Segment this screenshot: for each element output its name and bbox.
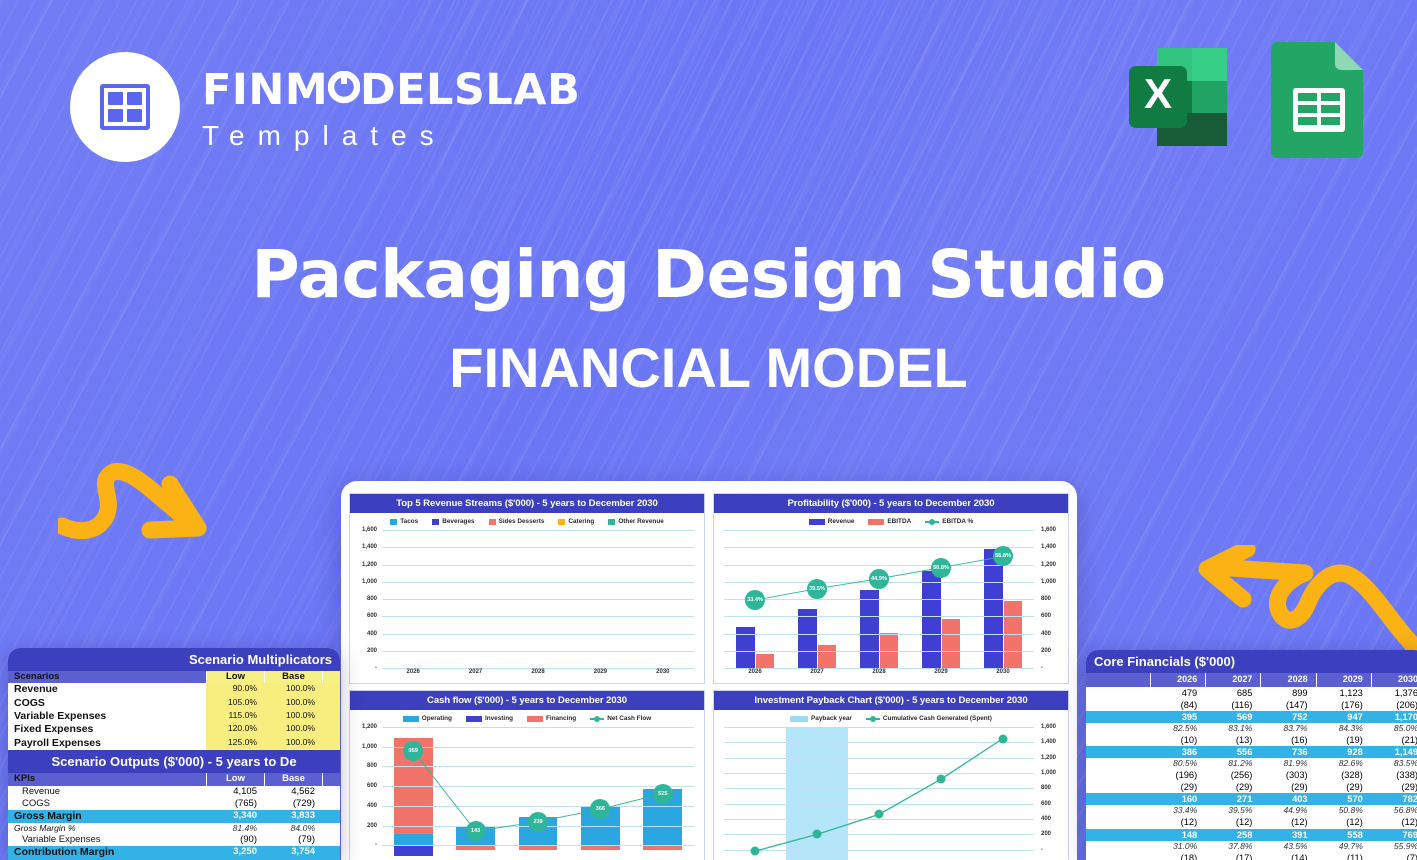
y-tick-label: 800 [1041,785,1051,791]
row-value: 80.5% [1150,758,1205,769]
row-label-spacer [1086,673,1150,687]
y-axis-labels: -2004006008001,0001,2001,4001,600 [1038,530,1064,668]
y-axis-labels: (200)-2004006008001,0001,200 [354,727,380,860]
chart-legend: Operating Investing Financing Net Cash F… [350,710,704,724]
core-financials-sheet[interactable]: Core Financials ($'000) 2026202720282029… [1086,650,1417,860]
row-value: (29) [1150,781,1205,793]
legend-label: Investing [485,715,513,722]
row-value: (79) [264,834,322,846]
table-row[interactable]: (10)(13)(16)(19)(21) [1086,734,1417,746]
row-value-cut [322,834,340,846]
row-label-spacer [1086,816,1150,828]
svg-text:X: X [1144,70,1172,117]
table-row[interactable]: (12)(12)(12)(12)(12) [1086,816,1417,828]
scenario-multiplicators-banner: Scenario Multiplicators [8,648,340,671]
row-label-spacer [1086,769,1150,781]
legend-label: Catering [568,518,594,525]
net-cash-flow-line [382,727,694,860]
y-tick-label: 1,400 [1041,544,1056,550]
row-value: 100.0% [264,683,322,696]
data-point [813,830,822,839]
row-value-cut [322,710,340,723]
row-value: (19) [1316,734,1371,746]
scenario-col-cut [322,671,340,683]
x-tick-label: 2026 [382,669,444,682]
legend-item: Beverages [432,518,474,525]
scenario-outputs-banner: Scenario Outputs ($'000) - 5 years to De [8,750,340,773]
cumulative-cash-line [724,727,1034,860]
row-label-spacer [1086,829,1150,841]
legend-label: Sides Desserts [499,518,545,525]
table-row[interactable]: Revenue90.0%100.0% [8,683,340,696]
chart-cash-flow[interactable]: Cash flow ($'000) - 5 years to December … [349,690,705,860]
legend-item: Other Revenue [608,518,663,525]
row-label-spacer [1086,699,1150,711]
legend-swatch [403,716,419,722]
row-label: Variable Expenses [8,834,206,846]
legend-swatch [390,519,397,525]
chart-title: Profitability ($'000) - 5 years to Decem… [714,494,1068,513]
legend-swatch [527,716,543,722]
y-axis-labels: (200)-2004006008001,0001,2001,4001,600 [1038,727,1064,860]
poster-canvas: FINM DELSLAB Templates [0,0,1417,860]
row-value: 84.3% [1316,723,1371,734]
y-tick-label: - [375,665,377,671]
legend-swatch [558,519,565,525]
row-value: 84.0% [264,823,322,834]
row-value: (17) [1205,852,1260,860]
grid-squares-icon [100,84,150,130]
row-value-cut [322,810,340,823]
row-label-spacer [1086,687,1150,699]
table-row[interactable]: 31.0%37.8%43.5%49.7%55.9% [1086,841,1417,852]
gridline [382,651,694,652]
row-value: 115.0% [206,710,264,723]
data-label: 959 [403,741,423,761]
row-value: 148 [1150,829,1205,841]
row-label-spacer [1086,793,1150,805]
data-label: 525 [653,784,673,804]
core-financials-year-header: 20262027202820292030 [1086,673,1417,687]
row-value: 947 [1316,711,1371,723]
plot-grid: 33.4%39.5%44.9%50.8%56.8% [724,530,1034,668]
legend-label: Tacos [400,518,418,525]
y-tick-label: 1,600 [362,527,377,533]
row-value: 33.4% [1150,805,1205,816]
data-label: 366 [590,799,610,819]
table-row[interactable]: 82.5%83.1%83.7%84.3%85.0% [1086,723,1417,734]
row-value-cut [322,786,340,798]
legend-line-swatch [925,521,939,523]
data-point [875,810,884,819]
row-value: 391 [1260,829,1315,841]
row-value: 395 [1150,711,1205,723]
row-value: 3,833 [264,810,322,823]
row-label-spacer [1086,758,1150,769]
row-value: (12) [1205,816,1260,828]
row-label-spacer [1086,841,1150,852]
y-tick-label: 1,400 [1041,739,1056,745]
legend-label: Cumulative Cash Generated (Spent) [883,715,992,722]
legend-swatch [489,519,496,525]
plot-grid [724,727,1034,860]
row-value: (7) [1371,852,1417,860]
table-row[interactable]: (84)(116)(147)(176)(206) [1086,699,1417,711]
legend-item: Operating [403,715,452,722]
row-value-cut [322,723,340,736]
table-row[interactable]: (196)(256)(303)(328)(338) [1086,769,1417,781]
row-label: Variable Expenses [8,710,206,723]
table-row[interactable]: Fixed Expenses120.0%100.0% [8,723,340,736]
legend-label: Other Revenue [618,518,663,525]
chart-title: Top 5 Revenue Streams ($'000) - 5 years … [350,494,704,513]
row-value: (18) [1150,852,1205,860]
row-value: 31.0% [1150,841,1205,852]
y-tick-label: 400 [367,803,377,809]
kpi-col-low: Low [206,773,264,785]
legend-item: Catering [558,518,594,525]
legend-label: EBITDA [887,518,911,525]
page-subtitle: FINANCIAL MODEL [0,335,1417,400]
chart-plot-area: -2004006008001,0001,2001,4001,600 202620… [350,527,704,683]
row-value: 43.5% [1260,841,1315,852]
table-row[interactable]: 160271403570782 [1086,793,1417,805]
curved-arrow-right-icon [58,440,218,565]
y-tick-label: 1,000 [1041,579,1056,585]
chart-title: Cash flow ($'000) - 5 years to December … [350,691,704,710]
gridline [382,530,694,531]
row-label: Fixed Expenses [8,723,206,736]
row-value: 105.0% [206,697,264,710]
table-row[interactable]: 148258391558769 [1086,829,1417,841]
legend-swatch [790,716,808,722]
row-value: 1,123 [1316,687,1371,699]
plot-grid [382,530,694,668]
data-label: 50.8% [931,558,951,578]
legend-item: Cumulative Cash Generated (Spent) [866,715,992,722]
data-point [937,775,946,784]
row-value: (29) [1316,781,1371,793]
row-value: 569 [1205,711,1260,723]
kpi-col-cut [322,773,340,785]
plot-grid: 959143239366525 [382,727,694,860]
row-value: 928 [1316,746,1371,758]
x-tick-label: 2029 [569,669,631,682]
y-tick-label: 800 [1041,596,1051,602]
row-value-cut [322,737,340,750]
row-value: 3,754 [264,846,322,859]
year-header-cell: 2027 [1205,673,1260,687]
y-tick-label: 1,400 [362,544,377,550]
row-value: 782 [1371,793,1417,805]
y-tick-label: 800 [367,763,377,769]
row-value-cut [322,846,340,859]
row-value: 100.0% [264,697,322,710]
table-row[interactable]: 80.5%81.2%81.9%82.6%83.5% [1086,758,1417,769]
x-tick-label: 2028 [848,669,910,682]
legend-item: Sides Desserts [489,518,545,525]
table-row[interactable]: 33.4%39.5%44.9%50.8%56.8% [1086,805,1417,816]
y-tick-label: - [1041,665,1043,671]
row-value: 736 [1260,746,1315,758]
x-tick-label: 2029 [910,669,972,682]
gridline [382,599,694,600]
row-value: (29) [1371,781,1417,793]
x-tick-label: 2030 [632,669,694,682]
scenario-header-row: Scenarios Low Base [8,671,340,683]
table-row[interactable]: Variable Expenses(90)(79) [8,834,340,846]
core-financials-banner: Core Financials ($'000) [1086,650,1417,673]
year-header-cell: 2030 [1371,673,1417,687]
y-tick-label: 1,000 [1041,770,1056,776]
row-value: (29) [1205,781,1260,793]
legend-label: Financing [546,715,576,722]
data-label: 33.4% [745,590,765,610]
table-row[interactable]: Contribution Margin3,2503,754 [8,846,340,859]
gridline [382,634,694,635]
y-tick-label: 400 [1041,631,1051,637]
year-header-cell: 2029 [1316,673,1371,687]
row-label: COGS [8,697,206,710]
legend-item: Tacos [390,518,418,525]
table-row[interactable]: 3865567369281,149 [1086,746,1417,758]
dashboard-card: Top 5 Revenue Streams ($'000) - 5 years … [341,481,1077,860]
row-value: (13) [1205,734,1260,746]
gridline [382,547,694,548]
year-header-cell: 2026 [1150,673,1205,687]
row-label-spacer [1086,852,1150,860]
legend-item: Net Cash Flow [590,715,651,722]
row-label: Revenue [8,786,206,798]
row-value: 1,170 [1371,711,1417,723]
row-value: 570 [1316,793,1371,805]
page-title: Packaging Design Studio [0,240,1417,309]
row-value: (256) [1205,769,1260,781]
row-label: Payroll Expenses [8,737,206,750]
row-value: 50.8% [1316,805,1371,816]
legend-item: Investing [466,715,513,722]
y-tick-label: 1,200 [1041,755,1056,761]
data-label: 44.9% [869,569,889,589]
row-value: 85.0% [1371,723,1417,734]
chart-title: Investment Payback Chart ($'000) - 5 yea… [714,691,1068,710]
data-label: 239 [528,812,548,832]
kpi-header-label: KPIs [8,773,206,785]
row-value: 83.1% [1205,723,1260,734]
table-row[interactable]: Payroll Expenses125.0%100.0% [8,737,340,750]
logo-word-part-1: FINM [202,65,328,115]
legend-swatch [432,519,439,525]
chart-revenue-streams[interactable]: Top 5 Revenue Streams ($'000) - 5 years … [349,493,705,684]
row-value: 55.9% [1371,841,1417,852]
gridline [382,565,694,566]
data-label: 39.5% [807,579,827,599]
y-tick-label: - [1041,847,1043,853]
legend-item: Financing [527,715,576,722]
row-value: (14) [1260,852,1315,860]
power-o-icon [328,62,360,104]
row-value: 81.4% [206,823,264,834]
row-value: 752 [1260,711,1315,723]
row-value: 769 [1371,829,1417,841]
row-value: (11) [1316,852,1371,860]
row-value: (303) [1260,769,1315,781]
row-label-spacer [1086,746,1150,758]
row-value: 899 [1260,687,1315,699]
chart-legend: Revenue EBITDA EBITDA % [714,513,1068,527]
chart-legend: Payback year Cumulative Cash Generated (… [714,710,1068,724]
scenario-col-low: Low [206,671,264,683]
kpi-header-row: KPIs Low Base [8,773,340,785]
row-value: (12) [1150,816,1205,828]
chart-plot-area: -2004006008001,0001,2001,4001,600 33.4%3… [714,527,1068,683]
row-value: 386 [1150,746,1205,758]
row-value-cut [322,823,340,834]
scenario-col-base: Base [264,671,322,683]
row-value: 44.9% [1260,805,1315,816]
table-row[interactable]: 3955697529471,170 [1086,711,1417,723]
row-value: (29) [1260,781,1315,793]
row-value: (12) [1371,816,1417,828]
row-value: 1,376 [1371,687,1417,699]
table-row[interactable]: 4796858991,1231,376 [1086,687,1417,699]
y-tick-label: 200 [1041,648,1051,654]
row-value: 271 [1205,793,1260,805]
x-axis-labels: 20262027202820292030 [382,669,694,682]
curved-arrow-left-icon [1185,545,1417,660]
legend-swatch [809,519,825,525]
row-value: 100.0% [264,723,322,736]
chart-plot-area: (200)-2004006008001,0001,200 95914323936… [350,724,704,860]
legend-line-swatch [866,718,880,720]
y-tick-label: 200 [367,823,377,829]
legend-label: EBITDA % [942,518,973,525]
chart-investment-payback[interactable]: Investment Payback Chart ($'000) - 5 yea… [713,690,1069,860]
legend-swatch [608,519,615,525]
row-value: (147) [1260,699,1315,711]
legend-item: Revenue [809,518,855,525]
y-tick-label: 1,000 [362,744,377,750]
table-row[interactable]: COGS(765)(729) [8,798,340,810]
row-label-spacer [1086,805,1150,816]
y-tick-label: - [375,842,377,848]
logo-mark [70,52,180,162]
logo-subtitle: Templates [202,120,580,152]
row-value: (21) [1371,734,1417,746]
row-label-spacer [1086,781,1150,793]
y-tick-label: 1,600 [1041,527,1056,533]
row-value: 83.7% [1260,723,1315,734]
row-value: (176) [1316,699,1371,711]
google-sheets-icon[interactable] [1269,36,1369,163]
y-tick-label: 800 [367,596,377,602]
row-label: Revenue [8,683,206,696]
y-tick-label: 400 [1041,816,1051,822]
table-row[interactable]: Gross Margin %81.4%84.0% [8,823,340,834]
scenario-multiplicators-rows: Revenue90.0%100.0%COGS105.0%100.0%Variab… [8,683,340,750]
row-label-spacer [1086,734,1150,746]
table-row[interactable]: Gross Margin3,3403,833 [8,810,340,823]
row-value: (16) [1260,734,1315,746]
row-value: (765) [206,798,264,810]
row-value: (206) [1371,699,1417,711]
brand-logo: FINM DELSLAB Templates [70,52,580,162]
chart-plot-area: (200)-2004006008001,0001,2001,4001,600 2… [714,724,1068,860]
y-tick-label: 1,200 [362,562,377,568]
legend-item: Payback year [790,715,852,722]
y-tick-label: 200 [367,648,377,654]
row-value: (12) [1316,816,1371,828]
row-value: 479 [1150,687,1205,699]
row-value: 258 [1205,829,1260,841]
row-value: 3,250 [206,846,264,859]
data-point [751,847,760,856]
table-row[interactable]: (18)(17)(14)(11)(7) [1086,852,1417,860]
row-value: 4,105 [206,786,264,798]
legend-label: Payback year [811,715,852,722]
x-tick-label: 2027 [444,669,506,682]
y-tick-label: 600 [1041,801,1051,807]
row-value: 39.5% [1205,805,1260,816]
row-value: (328) [1316,769,1371,781]
excel-icon[interactable]: X [1117,36,1239,163]
table-row[interactable]: Revenue4,1054,562 [8,786,340,798]
row-label: Gross Margin [8,810,206,823]
y-tick-label: 200 [1041,831,1051,837]
y-tick-label: 600 [1041,613,1051,619]
legend-label: Beverages [442,518,474,525]
row-value: 81.2% [1205,758,1260,769]
kpi-col-base: Base [264,773,322,785]
scenario-header-label: Scenarios [8,671,206,683]
chart-profitability[interactable]: Profitability ($'000) - 5 years to Decem… [713,493,1069,684]
row-label: COGS [8,798,206,810]
legend-item: EBITDA % [925,518,973,525]
ebitda-pct-line [724,530,1034,668]
core-financials-rows: 4796858991,1231,376(84)(116)(147)(176)(2… [1086,687,1417,860]
row-value: 558 [1316,829,1371,841]
table-row[interactable]: Variable Expenses115.0%100.0% [8,710,340,723]
x-tick-label: 2028 [507,669,569,682]
row-value: 81.9% [1260,758,1315,769]
row-value: 100.0% [264,737,322,750]
row-value: (116) [1205,699,1260,711]
row-label-spacer [1086,723,1150,734]
file-format-icons: X [1117,36,1369,163]
legend-swatch [868,519,884,525]
x-tick-label: 2030 [972,669,1034,682]
legend-line-swatch [590,718,604,720]
y-tick-label: 400 [367,631,377,637]
legend-label: Operating [422,715,452,722]
table-row[interactable]: (29)(29)(29)(29)(29) [1086,781,1417,793]
row-value: 160 [1150,793,1205,805]
scenario-sheet[interactable]: Scenario Multiplicators Scenarios Low Ba… [8,648,340,860]
row-value-cut [322,683,340,696]
data-label: 56.8% [993,546,1013,566]
y-axis-labels: -2004006008001,0001,2001,4001,600 [354,530,380,668]
headline-block: Packaging Design Studio FINANCIAL MODEL [0,240,1417,400]
table-row[interactable]: COGS105.0%100.0% [8,697,340,710]
data-label: 143 [466,821,486,841]
year-header-cell: 2028 [1260,673,1315,687]
row-label: Gross Margin % [8,823,206,834]
row-value: 3,340 [206,810,264,823]
x-tick-label: 2026 [724,669,786,682]
row-value: (12) [1260,816,1315,828]
row-value: 685 [1205,687,1260,699]
row-value: 37.8% [1205,841,1260,852]
